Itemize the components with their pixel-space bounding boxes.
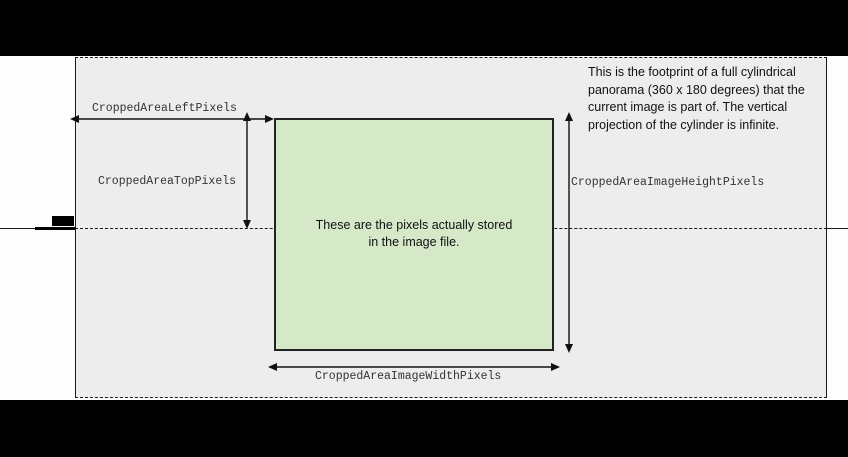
stored-image-caption-line-1: These are the pixels actually stored (274, 217, 554, 234)
label-cropped-area-top-pixels: CroppedAreaTopPixels (98, 175, 236, 188)
stored-image-caption: These are the pixels actually stored in … (274, 217, 554, 251)
horizon-marker-block (52, 216, 74, 226)
label-cropped-area-image-height-pixels: CroppedAreaImageHeightPixels (571, 176, 764, 189)
horizon-thick-stub (35, 227, 75, 230)
arrow-cropped-area-top-pixels (240, 112, 254, 236)
panorama-footprint-note: This is the footprint of a full cylindri… (588, 64, 834, 134)
letterbox-bottom-bar (0, 400, 848, 457)
stored-image-caption-line-2: in the image file. (274, 234, 554, 251)
arrow-cropped-area-image-width-pixels (268, 360, 566, 374)
diagram-canvas: These are the pixels actually stored in … (0, 0, 848, 457)
letterbox-top-bar (0, 0, 848, 56)
arrow-cropped-area-image-height-pixels (562, 112, 576, 360)
horizon-solid-line-right (826, 228, 848, 229)
